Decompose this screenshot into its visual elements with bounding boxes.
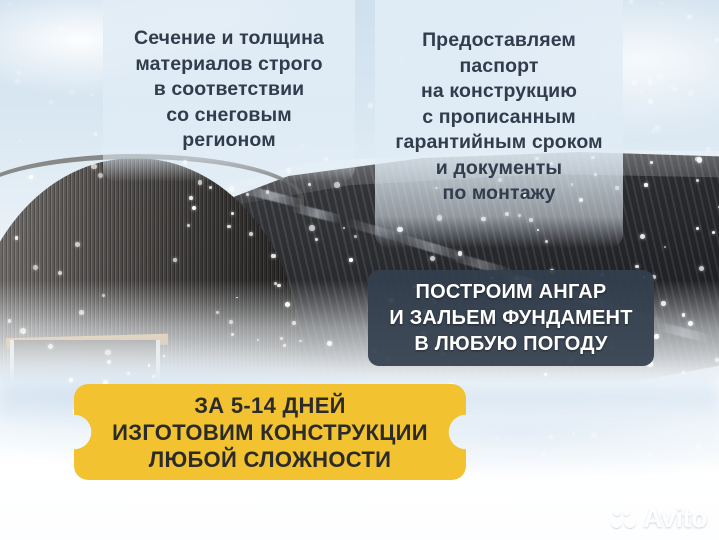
avito-wordmark: Avito (643, 505, 707, 532)
yellow-banner-line-2: ИЗГОТОВИМ КОНСТРУКЦИИ (112, 419, 428, 446)
panel-1-line-4: со снеговым (111, 103, 347, 129)
panel-2-line-3: на конструкцию (379, 79, 619, 105)
yellow-banner-line-1: ЗА 5-14 ДНЕЙ (112, 392, 428, 419)
dark-banner-line-3: В ЛЮБУЮ ПОГОДУ (389, 331, 632, 357)
avito-dots-logo-icon (611, 508, 637, 530)
panel-1-line-3: в соответствии (111, 77, 347, 103)
panel-2-line-6: и документы (379, 156, 619, 182)
documents-panel: Предоставляем паспорт на конструкцию с п… (375, 0, 623, 248)
dark-banner-line-1: ПОСТРОИМ АНГАР (389, 279, 632, 305)
weather-promise-banner: ПОСТРОИМ АНГАР И ЗАЛЬЕМ ФУНДАМЕНТ В ЛЮБУ… (368, 270, 654, 366)
avito-watermark: Avito (611, 505, 707, 532)
materials-spec-panel: Сечение и толщина материалов строго в со… (103, 0, 355, 182)
panel-2-line-7: по монтажу (379, 181, 619, 207)
panel-2-line-5: гарантийным сроком (379, 130, 619, 156)
panel-1-line-5: регионом (111, 128, 347, 154)
panel-1-line-1: Сечение и толщина (111, 26, 347, 52)
ad-banner-image: Сечение и толщина материалов строго в со… (0, 0, 719, 540)
dark-banner-line-2: И ЗАЛЬЕМ ФУНДАМЕНТ (389, 305, 632, 331)
panel-2-line-2: паспорт (379, 54, 619, 80)
delivery-time-banner: ЗА 5-14 ДНЕЙ ИЗГОТОВИМ КОНСТРУКЦИИ ЛЮБОЙ… (74, 384, 466, 480)
panel-2-line-1: Предоставляем (379, 28, 619, 54)
panel-2-line-4: с прописанным (379, 105, 619, 131)
panel-1-line-2: материалов строго (111, 52, 347, 78)
yellow-banner-line-3: ЛЮБОЙ СЛОЖНОСТИ (112, 446, 428, 473)
